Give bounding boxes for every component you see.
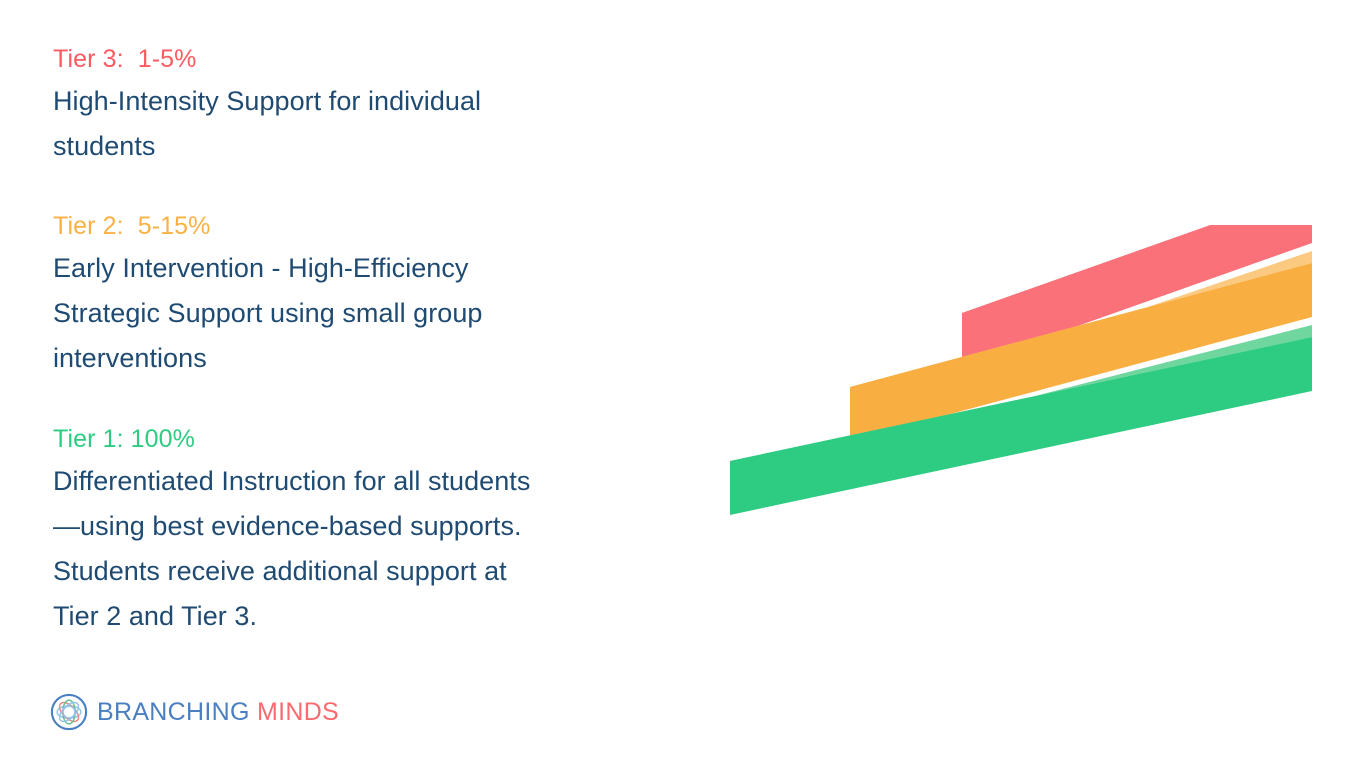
tier3-body-text: High-Intensity Support for individual st…: [53, 79, 693, 169]
tier2-body-text: Early Intervention - High-Efficiency Str…: [53, 246, 693, 381]
tier1-heading: Tier 1: 100%: [53, 424, 693, 454]
tier3-heading: Tier 3: 1-5%: [53, 44, 693, 74]
tier2-description-block: Tier 2: 5-15% Early Intervention - High-…: [53, 211, 693, 381]
tier-description-column: Tier 3: 1-5% High-Intensity Support for …: [53, 44, 693, 639]
branching-minds-logo: BRANCHING MINDS: [50, 693, 339, 731]
logo-wordmark: BRANCHING MINDS: [97, 700, 339, 725]
logo-word-branching: BRANCHING: [97, 698, 250, 726]
tier2-heading: Tier 2: 5-15%: [53, 211, 693, 241]
logo-word-minds: MINDS: [250, 698, 339, 726]
tier3-description-block: Tier 3: 1-5% High-Intensity Support for …: [53, 44, 693, 169]
tier1-description-block: Tier 1: 100% Differentiated Instruction …: [53, 424, 693, 639]
branching-minds-mark-icon: [50, 693, 88, 731]
tier1-step-label: Tier 1: [885, 485, 946, 510]
tier1-body-text: Differentiated Instruction for all stude…: [53, 459, 693, 639]
tier-staircase-diagram: Tier 3Tier 2Tier 1: [700, 225, 1340, 535]
